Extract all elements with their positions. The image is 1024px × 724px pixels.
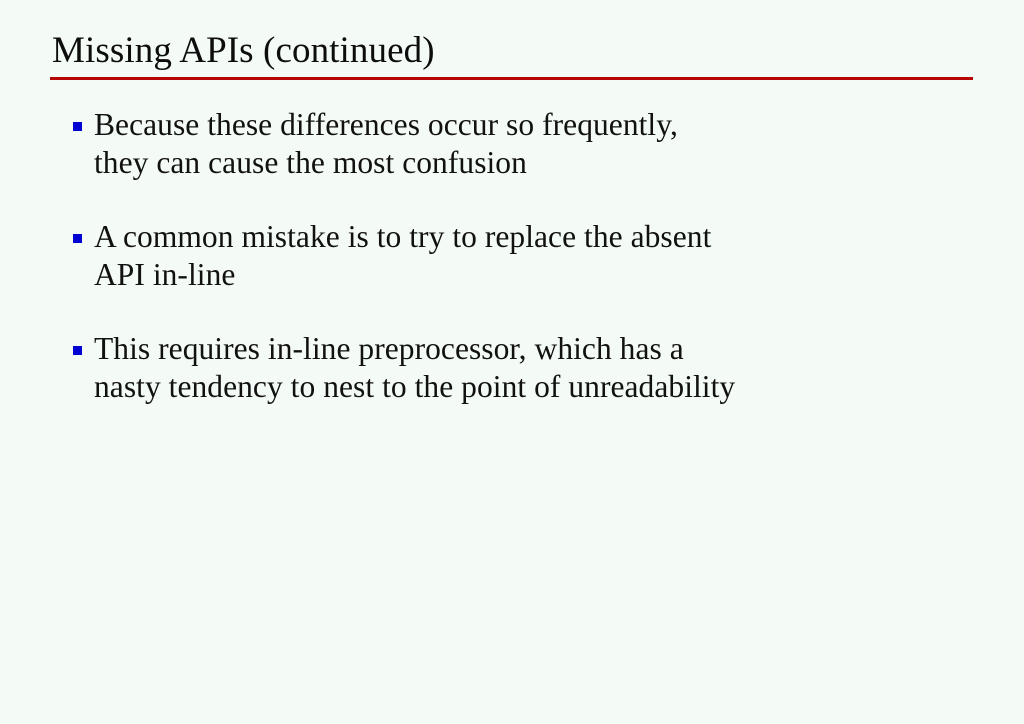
list-item: Because these differences occur so frequ…	[73, 106, 973, 182]
list-item-line: nasty tendency to nest to the point of u…	[94, 368, 973, 406]
bullet-list: Because these differences occur so frequ…	[73, 106, 973, 406]
square-bullet-icon	[73, 122, 82, 131]
list-item-text: A common mistake is to try to replace th…	[94, 218, 973, 294]
page-title: Missing APIs (continued)	[52, 29, 435, 73]
list-item-text: This requires in-line preprocessor, whic…	[94, 330, 973, 406]
list-item-line: A common mistake is to try to replace th…	[94, 218, 973, 256]
list-item-line: they can cause the most confusion	[94, 144, 973, 182]
list-item: This requires in-line preprocessor, whic…	[73, 330, 973, 406]
title-underline-rule	[50, 77, 973, 80]
square-bullet-icon	[73, 234, 82, 243]
square-bullet-icon	[73, 346, 82, 355]
list-item-line: Because these differences occur so frequ…	[94, 106, 973, 144]
list-item: A common mistake is to try to replace th…	[73, 218, 973, 294]
slide-canvas: Missing APIs (continued) Because these d…	[0, 0, 1024, 724]
list-item-text: Because these differences occur so frequ…	[94, 106, 973, 182]
list-item-line: This requires in-line preprocessor, whic…	[94, 330, 973, 368]
list-item-line: API in-line	[94, 256, 973, 294]
